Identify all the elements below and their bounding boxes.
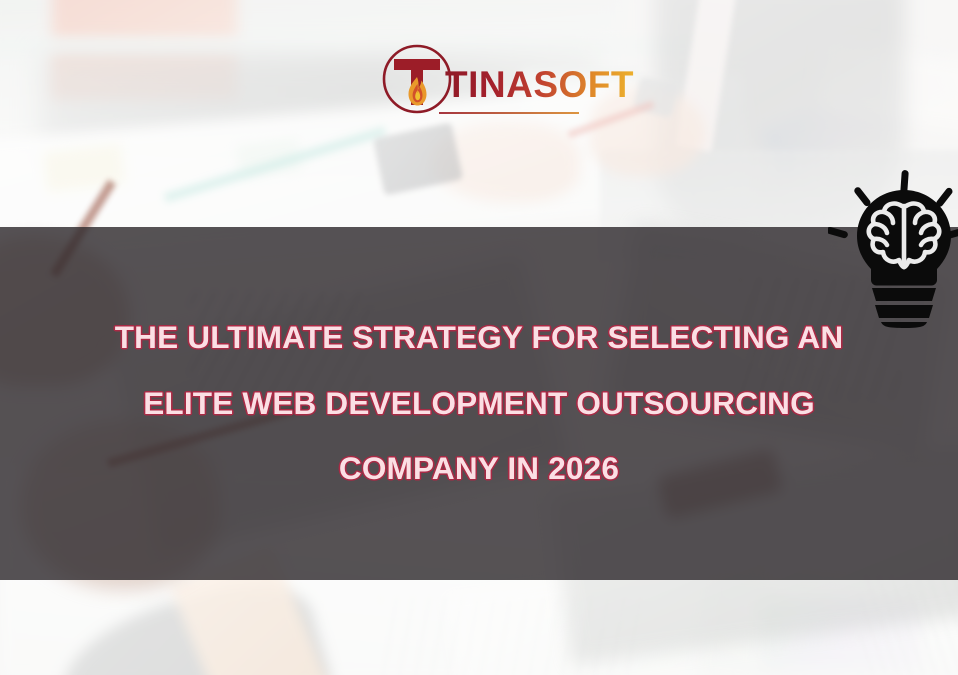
blog-banner: TINASOFT bbox=[0, 0, 958, 675]
tinasoft-logo[interactable]: TINASOFT bbox=[381, 40, 581, 118]
headline-line-3: COMPANY IN 2026 bbox=[0, 453, 958, 485]
headline-line-2: ELITE WEB DEVELOPMENT OUTSOURCING bbox=[0, 388, 958, 420]
page-title: THE ULTIMATE STRATEGY FOR SELECTING AN E… bbox=[0, 322, 958, 485]
logo-wordmark: TINASOFT bbox=[445, 56, 634, 103]
torch-flame-in-circle-icon bbox=[381, 43, 453, 115]
headline-line-1: THE ULTIMATE STRATEGY FOR SELECTING AN bbox=[0, 322, 958, 354]
logo-underline bbox=[439, 112, 579, 114]
lightbulb-brain-idea-icon bbox=[828, 168, 958, 328]
